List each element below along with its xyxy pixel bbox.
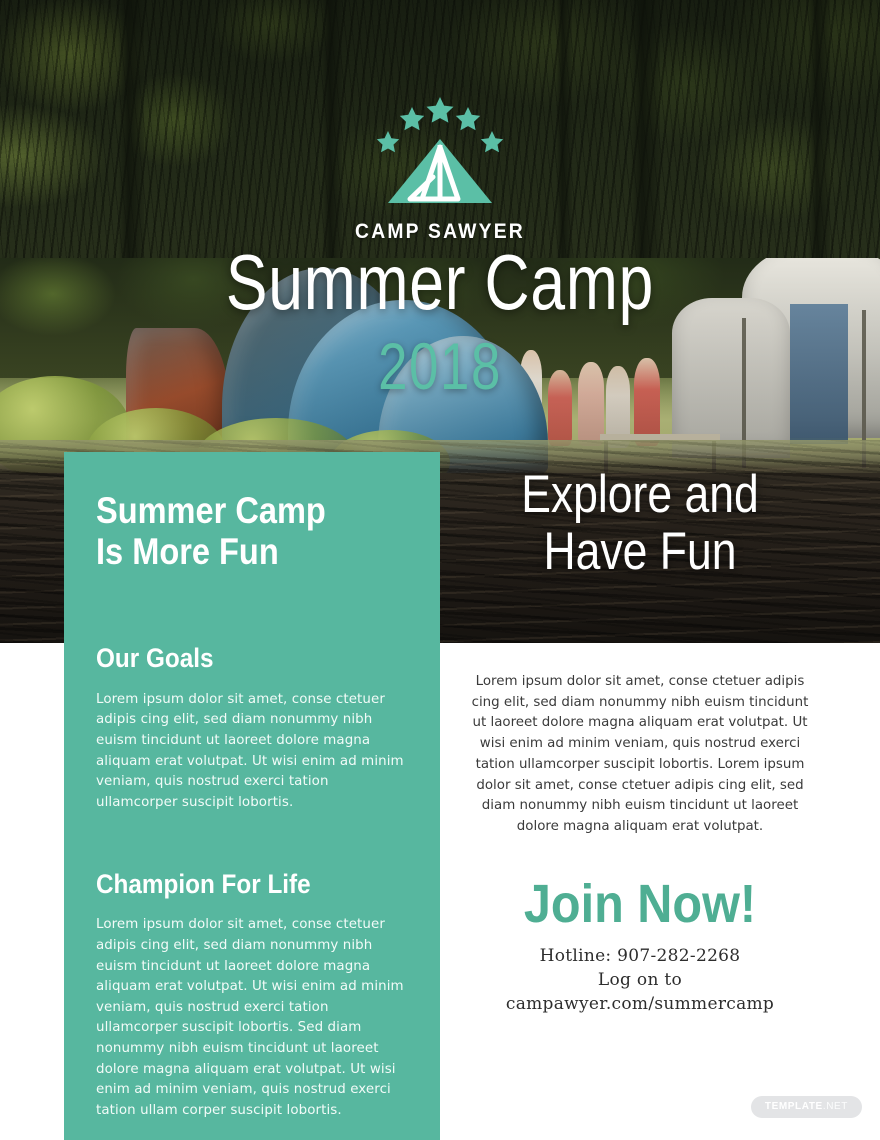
flyer-page: CAMP SAWYER Summer Camp 2018 Explore and… — [0, 0, 880, 1140]
section-spacer — [96, 814, 412, 870]
right-column: Lorem ipsum dolor sit amet, conse ctetue… — [470, 672, 810, 838]
tent-triangle-icon — [360, 95, 520, 205]
watermark-bold: TEMPLATE — [765, 1101, 823, 1112]
section-body-our-goals: Lorem ipsum dolor sit amet, conse ctetue… — [96, 690, 412, 814]
right-body-text: Lorem ipsum dolor sit amet, conse ctetue… — [470, 672, 810, 838]
section-title-champion-for-life: Champion For Life — [96, 870, 380, 900]
website-url[interactable]: campawyer.com/summercamp — [460, 992, 820, 1016]
panel-body: Our Goals Lorem ipsum dolor sit amet, co… — [96, 644, 412, 1122]
template-net-watermark: TEMPLATE.NET — [751, 1096, 862, 1118]
join-now-cta[interactable]: Join Now! — [487, 877, 793, 931]
explore-heading: Explore andHave Fun — [497, 466, 783, 580]
hero-year: 2018 — [88, 333, 792, 399]
contact-block: Hotline: 907-282-2268 Log on to campawye… — [460, 944, 820, 1016]
panel-heading: Summer CampIs More Fun — [96, 490, 369, 573]
hotline-text: Hotline: 907-282-2268 — [460, 944, 820, 968]
section-body-champion-for-life: Lorem ipsum dolor sit amet, conse ctetue… — [96, 915, 412, 1121]
brand-logo: CAMP SAWYER — [0, 95, 880, 244]
teal-content-panel: Summer CampIs More Fun Our Goals Lorem i… — [64, 452, 440, 1140]
logon-label: Log on to — [460, 968, 820, 992]
hero-title: Summer Camp — [88, 247, 792, 319]
watermark-light: .NET — [823, 1101, 848, 1112]
section-title-our-goals: Our Goals — [96, 644, 380, 674]
